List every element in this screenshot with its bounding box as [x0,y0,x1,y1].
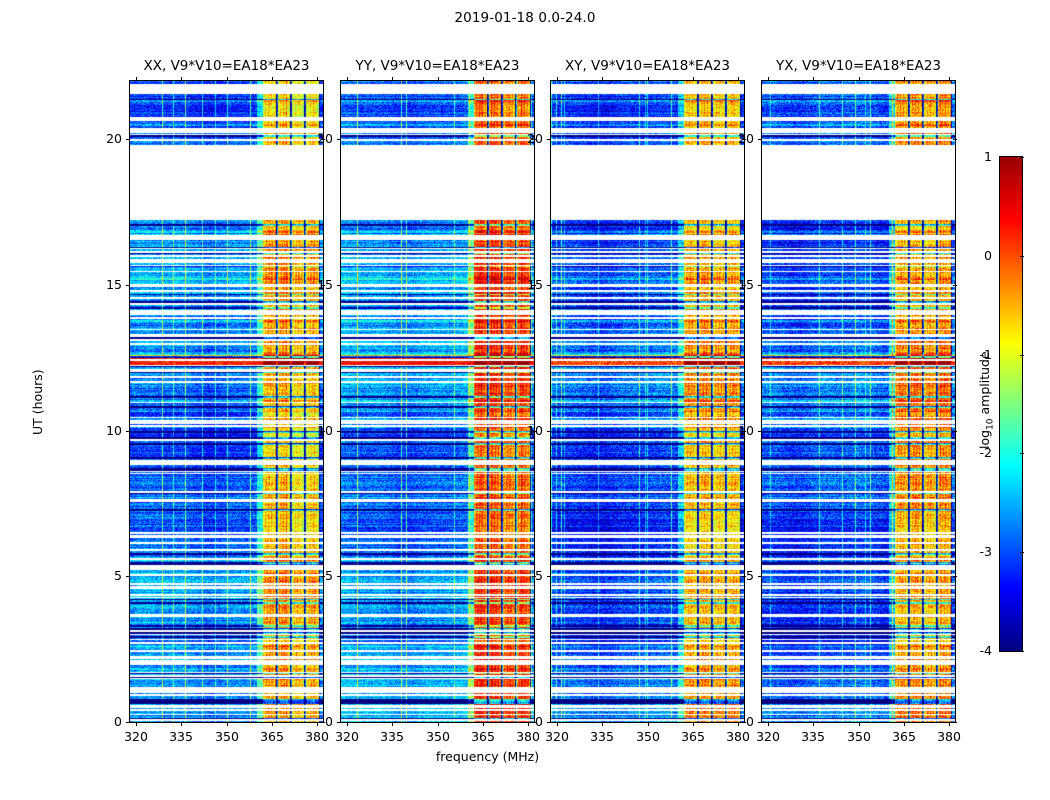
x-tick-label-yy-350: 350 [413,729,463,744]
x-tick-label-xy-350: 350 [623,729,673,744]
x-tick-xy-350 [648,722,649,726]
y-tick-label-xx-0: 0 [81,714,122,729]
x-tick-top-yx-365 [904,77,905,81]
x-tick-yy-320 [347,722,348,726]
x-tick-label-yx-320: 320 [743,729,793,744]
y-tick-label-yx-5: 5 [713,568,754,583]
x-tick-xx-335 [181,722,182,726]
x-tick-yy-350 [438,722,439,726]
y-tick-label-yx-20: 20 [713,131,754,146]
colorbar-label-subscript: 10 [986,418,996,429]
y-tick-xx-0 [126,722,130,723]
colorbar-tick--2 [1020,453,1024,454]
waterfall-image-xx [130,81,323,722]
x-tick-yx-365 [904,722,905,726]
x-tick-label-xx-335: 335 [156,729,206,744]
y-tick-right-yx-20 [953,139,957,140]
y-tick-label-xx-10: 10 [81,423,122,438]
x-axis-label: frequency (MHz) [0,749,1050,764]
y-tick-yx-15 [758,285,762,286]
x-tick-top-yy-335 [392,77,393,81]
x-tick-label-xx-365: 365 [247,729,297,744]
y-axis-label: UT (hours) [30,369,45,435]
y-tick-right-yx-0 [953,722,957,723]
waterfall-panel-xy[interactable] [550,80,745,723]
x-tick-label-xx-350: 350 [202,729,252,744]
x-tick-top-xy-365 [693,77,694,81]
x-tick-top-yx-380 [949,77,950,81]
y-tick-right-yx-10 [953,431,957,432]
colorbar-tick-0 [1020,256,1024,257]
x-tick-yy-365 [483,722,484,726]
y-tick-yx-5 [758,576,762,577]
y-tick-yx-0 [758,722,762,723]
y-tick-label-xy-10: 10 [502,423,543,438]
x-tick-top-yy-320 [347,77,348,81]
y-tick-xx-5 [126,576,130,577]
y-tick-xx-10 [126,431,130,432]
y-tick-xx-20 [126,139,130,140]
y-tick-yx-20 [758,139,762,140]
x-tick-top-yy-350 [438,77,439,81]
waterfall-panel-xx[interactable] [129,80,324,723]
x-tick-top-yy-365 [483,77,484,81]
x-tick-label-yx-335: 335 [788,729,838,744]
y-tick-xy-10 [547,431,551,432]
x-tick-label-xx-320: 320 [111,729,161,744]
x-tick-top-yx-350 [859,77,860,81]
y-tick-yy-20 [337,139,341,140]
y-tick-right-yx-5 [953,576,957,577]
y-tick-label-yy-5: 5 [292,568,333,583]
colorbar-tick--3 [1020,552,1024,553]
x-tick-top-xx-350 [227,77,228,81]
y-tick-xx-15 [126,285,130,286]
y-tick-label-yy-15: 15 [292,277,333,292]
x-tick-top-xx-335 [181,77,182,81]
y-tick-xy-15 [547,285,551,286]
y-tick-label-xy-20: 20 [502,131,543,146]
waterfall-panel-yx[interactable] [761,80,956,723]
y-tick-right-yx-15 [953,285,957,286]
x-tick-label-yy-365: 365 [458,729,508,744]
y-tick-label-xy-0: 0 [502,714,543,729]
x-tick-label-yx-365: 365 [879,729,929,744]
x-tick-top-xy-335 [602,77,603,81]
x-tick-xx-350 [227,722,228,726]
y-tick-yy-0 [337,722,341,723]
figure-canvas: 2019-01-18 0.0-24.0 XX, V9*V10=EA18*EA23… [0,0,1050,800]
colorbar-tick--4 [1020,651,1024,652]
y-tick-label-xx-20: 20 [81,131,122,146]
y-tick-label-yx-10: 10 [713,423,754,438]
x-tick-top-xy-350 [648,77,649,81]
colorbar-tick-label--3: -3 [951,544,992,559]
x-tick-label-xy-365: 365 [668,729,718,744]
x-tick-yx-380 [949,722,950,726]
x-tick-yx-350 [859,722,860,726]
x-tick-top-yx-335 [813,77,814,81]
x-tick-label-xy-335: 335 [577,729,627,744]
x-tick-top-xy-380 [738,77,739,81]
y-tick-label-yx-15: 15 [713,277,754,292]
colorbar-tick-label-0: 0 [951,248,992,263]
waterfall-image-xy [551,81,744,722]
panel-title-yx: YX, V9*V10=EA18*EA23 [701,58,1016,74]
x-tick-top-yy-380 [528,77,529,81]
figure-suptitle: 2019-01-18 0.0-24.0 [0,10,1050,26]
colorbar-tick--1 [1020,355,1024,356]
x-tick-yx-320 [768,722,769,726]
x-tick-xy-335 [602,722,603,726]
x-tick-top-xx-380 [317,77,318,81]
y-tick-yy-15 [337,285,341,286]
y-tick-xy-20 [547,139,551,140]
colorbar-label: log10 amplitude [977,351,996,449]
waterfall-panel-yy[interactable] [340,80,535,723]
colorbar-tick-label-1: 1 [951,149,992,164]
y-tick-label-xy-15: 15 [502,277,543,292]
y-tick-label-xy-5: 5 [502,568,543,583]
y-tick-label-xx-15: 15 [81,277,122,292]
x-tick-top-xy-320 [557,77,558,81]
x-tick-label-xy-320: 320 [532,729,582,744]
waterfall-image-yy [341,81,534,722]
y-tick-label-yy-0: 0 [292,714,333,729]
y-tick-yy-5 [337,576,341,577]
y-tick-label-yx-0: 0 [713,714,754,729]
colorbar[interactable] [999,156,1023,652]
x-tick-label-yy-320: 320 [322,729,372,744]
x-tick-xy-320 [557,722,558,726]
y-tick-label-xx-5: 5 [81,568,122,583]
x-tick-top-yx-320 [768,77,769,81]
y-tick-yy-10 [337,431,341,432]
waterfall-image-yx [762,81,955,722]
x-tick-xx-365 [272,722,273,726]
x-tick-xx-320 [136,722,137,726]
y-tick-yx-10 [758,431,762,432]
y-tick-label-yy-20: 20 [292,131,333,146]
x-tick-label-yx-350: 350 [834,729,884,744]
x-tick-label-yx-380: 380 [924,729,974,744]
x-tick-top-xx-365 [272,77,273,81]
colorbar-tick-label--4: -4 [951,643,992,658]
x-tick-label-yy-335: 335 [367,729,417,744]
x-tick-yy-335 [392,722,393,726]
y-tick-label-yy-10: 10 [292,423,333,438]
y-tick-xy-5 [547,576,551,577]
colorbar-gradient [1000,157,1022,651]
colorbar-tick-1 [1020,157,1024,158]
x-tick-xy-365 [693,722,694,726]
y-tick-xy-0 [547,722,551,723]
x-tick-top-xx-320 [136,77,137,81]
x-tick-yx-335 [813,722,814,726]
